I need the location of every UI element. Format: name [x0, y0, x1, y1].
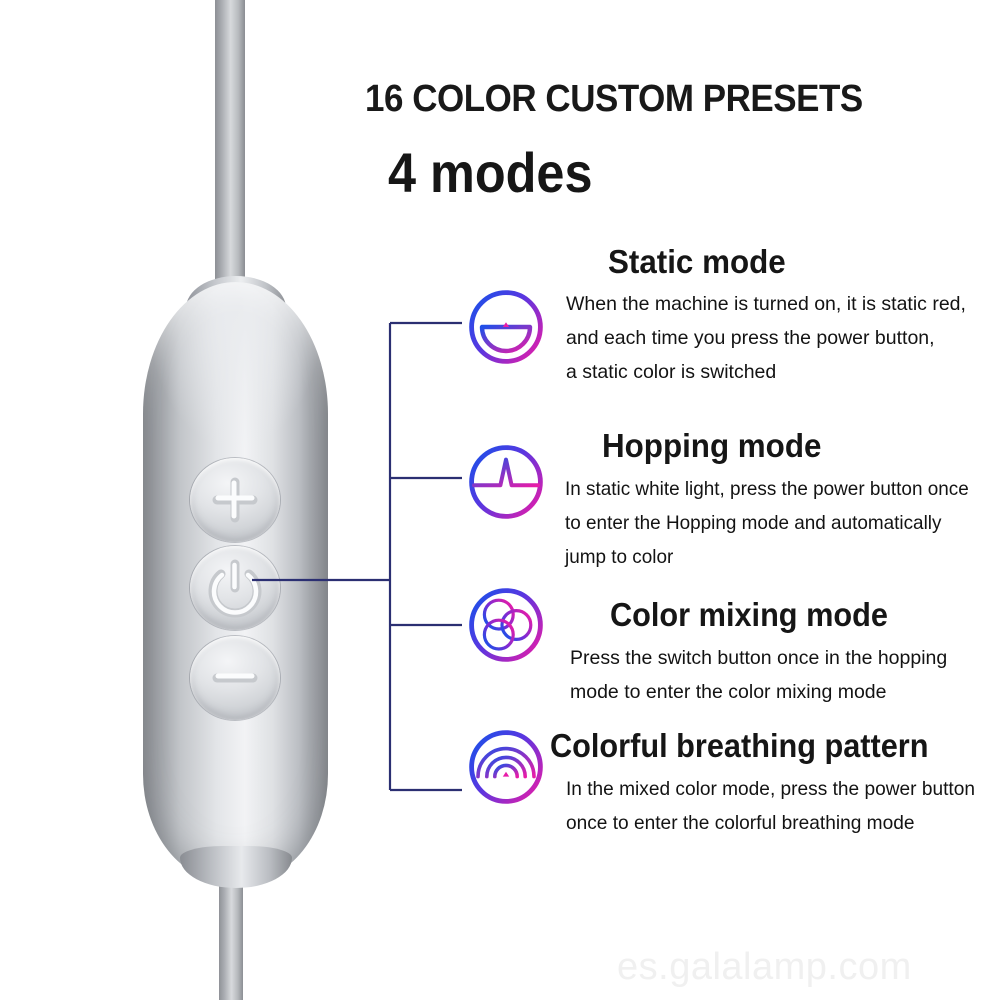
page-title: 16 COLOR CUSTOM PRESETS	[365, 78, 863, 121]
hopping-mode-description: In static white light, press the power b…	[565, 472, 969, 574]
brightness-up-button[interactable]	[190, 458, 280, 542]
desc-line: When the machine is turned on, it is sta…	[566, 287, 966, 321]
power-cable-lower	[219, 872, 243, 1000]
desc-line: and each time you press the power button…	[566, 321, 966, 355]
static-mode-icon	[466, 287, 546, 367]
desc-line: Press the switch button once in the hopp…	[570, 641, 947, 675]
controller-neck-bottom	[180, 846, 292, 888]
desc-line: a static color is switched	[566, 355, 966, 389]
infographic-canvas: 16 COLOR CUSTOM PRESETS 4 modes	[0, 0, 1000, 1000]
hopping-mode-icon	[466, 442, 546, 522]
desc-line: once to enter the colorful breathing mod…	[566, 806, 975, 840]
color-mixing-mode-icon	[466, 585, 546, 665]
site-watermark: es.galalamp.com	[617, 946, 912, 989]
hopping-mode-title: Hopping mode	[602, 427, 821, 465]
brightness-down-button[interactable]	[190, 636, 280, 720]
power-cable-upper	[215, 0, 245, 296]
desc-line: to enter the Hopping mode and automatica…	[565, 506, 969, 540]
color-mixing-mode-description: Press the switch button once in the hopp…	[570, 641, 947, 709]
desc-line: In static white light, press the power b…	[565, 472, 969, 506]
colorful-breathing-mode-title: Colorful breathing pattern	[550, 727, 929, 765]
colorful-breathing-mode-description: In the mixed color mode, press the power…	[566, 772, 975, 840]
plus-icon	[190, 458, 280, 542]
power-button[interactable]	[190, 546, 280, 630]
desc-line: mode to enter the color mixing mode	[570, 675, 947, 709]
static-mode-title: Static mode	[608, 243, 786, 281]
page-subtitle: 4 modes	[388, 140, 592, 205]
color-mixing-mode-title: Color mixing mode	[610, 596, 888, 634]
power-icon	[190, 546, 280, 630]
static-mode-description: When the machine is turned on, it is sta…	[566, 287, 966, 389]
desc-line: jump to color	[565, 540, 969, 574]
colorful-breathing-mode-icon	[466, 727, 546, 807]
minus-icon	[190, 636, 280, 720]
desc-line: In the mixed color mode, press the power…	[566, 772, 975, 806]
